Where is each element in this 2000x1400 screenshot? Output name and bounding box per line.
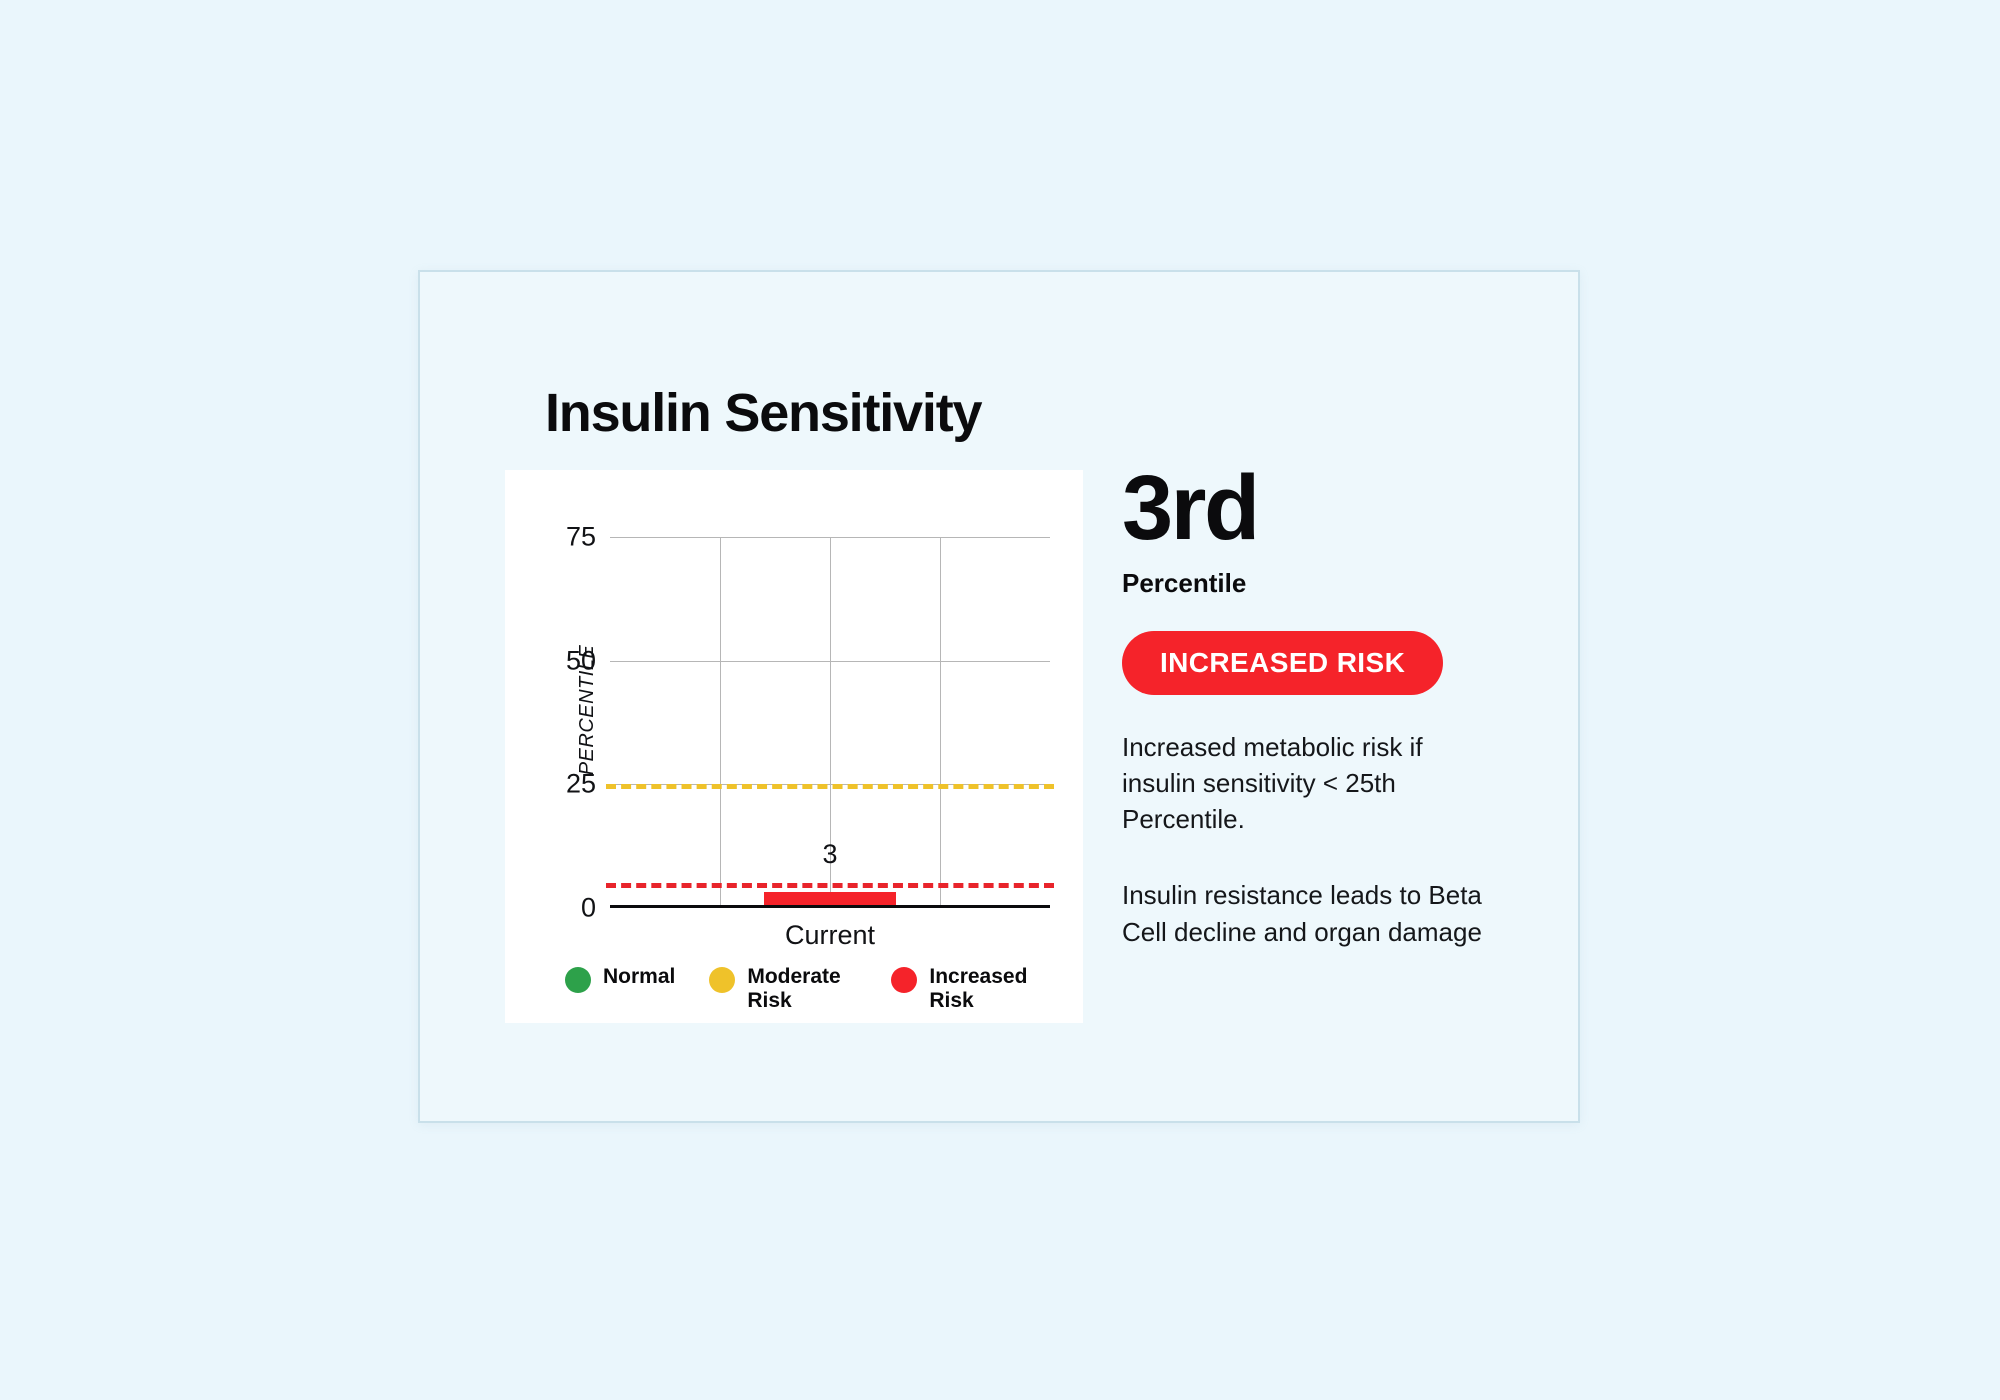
insulin-sensitivity-card: Insulin Sensitivity PERCENTILE 0255075 3… bbox=[418, 270, 1580, 1123]
legend-item-label: Increased Risk bbox=[929, 965, 1039, 1012]
score-value: 3rd bbox=[1122, 462, 1522, 554]
summary-paragraph-risk-threshold: Increased metabolic risk if insulin sens… bbox=[1122, 729, 1482, 837]
threshold-line-increased-risk bbox=[606, 883, 1054, 888]
summary-paragraph-consequences: Insulin resistance leads to Beta Cell de… bbox=[1122, 877, 1482, 949]
legend-item-label: Moderate Risk bbox=[747, 965, 857, 1012]
legend-item[interactable]: Moderate Risk bbox=[709, 965, 857, 1012]
x-axis-label: Current bbox=[610, 920, 1050, 951]
bar-value-label: 3 bbox=[822, 839, 837, 870]
legend-dot-icon bbox=[709, 967, 735, 993]
threshold-line-moderate-risk bbox=[606, 784, 1054, 789]
legend-item[interactable]: Normal bbox=[565, 965, 675, 993]
gridline-vertical bbox=[940, 537, 941, 908]
page-title: Insulin Sensitivity bbox=[545, 382, 981, 444]
summary-column: 3rd Percentile INCREASED RISK Increased … bbox=[1122, 462, 1522, 950]
gridline-vertical bbox=[720, 537, 721, 908]
x-axis-baseline bbox=[610, 905, 1050, 908]
percentile-chart-panel: PERCENTILE 0255075 3 Current NormalModer… bbox=[505, 470, 1083, 1023]
y-axis-tick-label: 50 bbox=[566, 645, 596, 676]
status-badge[interactable]: INCREASED RISK bbox=[1122, 631, 1443, 695]
legend-dot-icon bbox=[891, 967, 917, 993]
legend-item-label: Normal bbox=[603, 965, 675, 989]
chart-legend: NormalModerate RiskIncreased Risk bbox=[565, 965, 1065, 1012]
y-axis-tick-label: 0 bbox=[581, 893, 596, 924]
y-axis-tick-label: 25 bbox=[566, 769, 596, 800]
y-axis-tick-label: 75 bbox=[566, 521, 596, 552]
score-unit-label: Percentile bbox=[1122, 568, 1522, 599]
chart-plot-area: PERCENTILE 0255075 3 Current bbox=[610, 512, 1050, 908]
legend-item[interactable]: Increased Risk bbox=[891, 965, 1039, 1012]
legend-dot-icon bbox=[565, 967, 591, 993]
